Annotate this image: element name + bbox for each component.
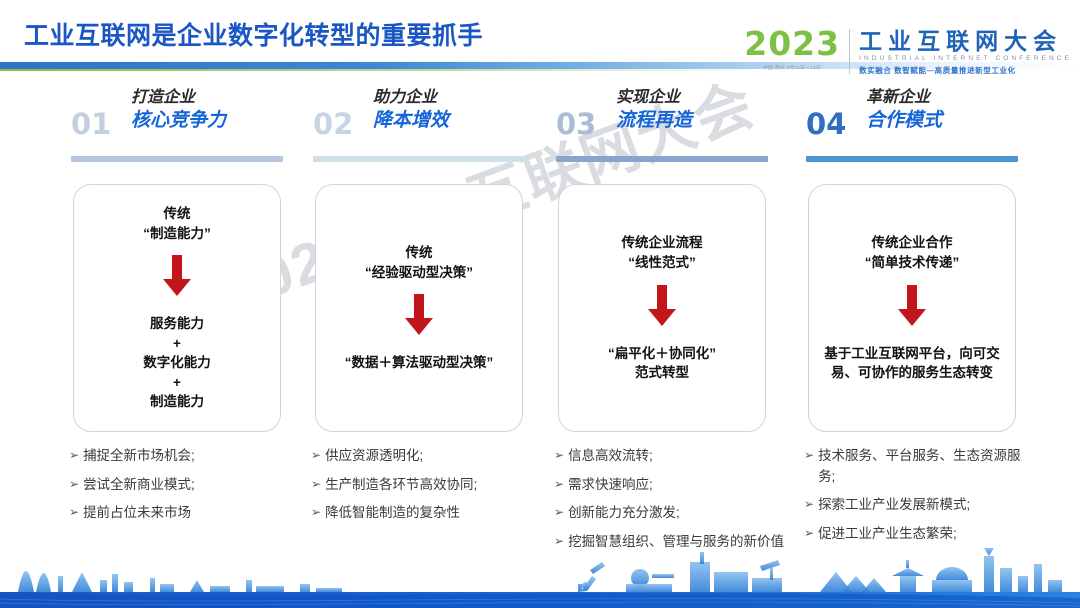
column-01-number: 01 (71, 110, 111, 139)
column-04-title: 合作模式 (866, 109, 942, 133)
bullet-item: ➢创新能力充分激发; (554, 503, 786, 524)
column-03-number: 03 (556, 110, 596, 139)
logo-year: 2023 (744, 27, 840, 60)
column-04-card-bottom: 基于工业互联网平台，向可交易、可协作的服务生态转变 (821, 344, 1003, 383)
title-divider-green (0, 69, 760, 71)
column-02-card: 传统 “经验驱动型决策” “数据＋算法驱动型决策” (315, 184, 523, 432)
bullet-item: ➢信息高效流转; (554, 446, 786, 467)
column-03-title: 流程再造 (616, 109, 692, 133)
bullet-text: 捕捉全新市场机会; (83, 446, 301, 467)
column-02-card-top: 传统 “经验驱动型决策” (365, 243, 473, 282)
bullet-text: 促进工业产业生态繁荣; (818, 524, 1036, 545)
column-01-card: 传统 “制造能力” 服务能力 + 数字化能力 + 制造能力 (73, 184, 281, 432)
column-01: 01 打造企业 核心竞争力 传统 “制造能力” 服务能力 + 数字化能力 + 制… (55, 88, 300, 162)
column-03: 03 实现企业 流程再造 传统企业流程 “线性范式” “扁平化＋协同化” 范式转… (540, 88, 785, 162)
bullet-item: ➢技术服务、平台服务、生态资源服务; (804, 446, 1036, 487)
column-02-card-bottom: “数据＋算法驱动型决策” (345, 353, 494, 373)
column-02-heading: 助力企业 降本增效 (373, 88, 449, 133)
column-01-title: 核心竞争力 (131, 109, 226, 133)
bullet-item: ➢需求快速响应; (554, 475, 786, 496)
bullet-text: 需求快速响应; (568, 475, 786, 496)
column-01-heading: 打造企业 核心竞争力 (131, 88, 226, 133)
column-03-bullets: ➢信息高效流转;➢需求快速响应;➢创新能力充分激发;➢挖掘智慧组织、管理与服务的… (554, 446, 786, 560)
conference-logo: 2023 中国·苏州 5月11日—13日 工业互联网大会 INDUSTRIAL … (744, 27, 1072, 76)
bullet-text: 降低智能制造的复杂性 (325, 503, 543, 524)
column-04-heading: 革新企业 合作模式 (866, 88, 942, 133)
column-02-title: 降本增效 (373, 109, 449, 133)
slide-root: 工业互联网是企业数字化转型的重要抓手 2023 中国·苏州 5月11日—13日 … (0, 0, 1080, 608)
bullet-item: ➢生产制造各环节高效协同; (311, 475, 543, 496)
column-03-card-bottom: “扁平化＋协同化” 范式转型 (608, 344, 716, 383)
column-01-header: 01 打造企业 核心竞争力 (55, 88, 300, 162)
column-04-subtitle: 革新企业 (866, 88, 942, 108)
skyline-silhouette (18, 548, 1062, 592)
chevron-right-icon: ➢ (804, 495, 814, 516)
logo-date-location: 中国·苏州 5月11日—13日 (747, 64, 838, 71)
column-01-bullets: ➢捕捉全新市场机会;➢尝试全新商业模式;➢提前占位未来市场 (69, 446, 301, 532)
column-04-underline (806, 156, 1018, 162)
bullet-item: ➢提前占位未来市场 (69, 503, 301, 524)
chevron-right-icon: ➢ (554, 475, 564, 496)
bullet-item: ➢降低智能制造的复杂性 (311, 503, 543, 524)
column-02-underline (313, 156, 525, 162)
bullet-text: 尝试全新商业模式; (83, 475, 301, 496)
bullet-text: 生产制造各环节高效协同; (325, 475, 543, 496)
bullet-text: 信息高效流转; (568, 446, 786, 467)
chevron-right-icon: ➢ (69, 475, 79, 496)
bullet-text: 供应资源透明化; (325, 446, 543, 467)
column-04-header: 04 革新企业 合作模式 (790, 88, 1035, 162)
chevron-right-icon: ➢ (311, 446, 321, 467)
bullet-text: 提前占位未来市场 (83, 503, 301, 524)
column-03-card-top: 传统企业流程 “线性范式” (622, 233, 703, 272)
column-02-subtitle: 助力企业 (373, 88, 449, 108)
column-01-card-top: 传统 “制造能力” (143, 204, 211, 243)
column-04-number: 04 (806, 110, 846, 139)
columns-container: 01 打造企业 核心竞争力 传统 “制造能力” 服务能力 + 数字化能力 + 制… (0, 88, 1080, 548)
column-02: 02 助力企业 降本增效 传统 “经验驱动型决策” “数据＋算法驱动型决策” ➢… (297, 88, 542, 162)
bullet-item: ➢促进工业产业生态繁荣; (804, 524, 1036, 545)
bullet-item: ➢捕捉全新市场机会; (69, 446, 301, 467)
logo-title-en: INDUSTRIAL INTERNET CONFERENCE (859, 55, 1072, 62)
down-arrow-icon (897, 285, 927, 332)
column-03-card: 传统企业流程 “线性范式” “扁平化＋协同化” 范式转型 (558, 184, 766, 432)
bullet-item: ➢供应资源透明化; (311, 446, 543, 467)
column-02-bullets: ➢供应资源透明化;➢生产制造各环节高效协同;➢降低智能制造的复杂性 (311, 446, 543, 532)
chevron-right-icon: ➢ (69, 503, 79, 524)
column-04-card: 传统企业合作 “简单技术传递” 基于工业互联网平台，向可交易、可协作的服务生态转… (808, 184, 1016, 432)
down-arrow-icon (404, 294, 434, 341)
column-03-heading: 实现企业 流程再造 (616, 88, 692, 133)
column-01-subtitle: 打造企业 (131, 88, 226, 108)
chevron-right-icon: ➢ (311, 503, 321, 524)
column-04-card-top: 传统企业合作 “简单技术传递” (865, 233, 960, 272)
logo-year-block: 2023 中国·苏州 5月11日—13日 (744, 27, 849, 71)
column-01-underline (71, 156, 283, 162)
chevron-right-icon: ➢ (804, 446, 814, 487)
column-04-bullets: ➢技术服务、平台服务、生态资源服务;➢探索工业产业发展新模式;➢促进工业产业生态… (804, 446, 1036, 552)
chevron-right-icon: ➢ (311, 475, 321, 496)
column-03-header: 03 实现企业 流程再造 (540, 88, 785, 162)
column-02-number: 02 (313, 110, 353, 139)
footer-band (0, 546, 1080, 608)
logo-title-cn: 工业互联网大会 (859, 29, 1072, 53)
bullet-text: 创新能力充分激发; (568, 503, 786, 524)
page-title: 工业互联网是企业数字化转型的重要抓手 (24, 16, 483, 52)
bullet-text: 探索工业产业发展新模式; (818, 495, 1036, 516)
footer-skyline-graphic (0, 546, 1080, 608)
bullet-item: ➢尝试全新商业模式; (69, 475, 301, 496)
chevron-right-icon: ➢ (554, 446, 564, 467)
down-arrow-icon (162, 255, 192, 302)
chevron-right-icon: ➢ (554, 503, 564, 524)
chevron-right-icon: ➢ (804, 524, 814, 545)
column-03-underline (556, 156, 768, 162)
bullet-item: ➢探索工业产业发展新模式; (804, 495, 1036, 516)
logo-slogan: 数实融合 数智赋能—高质量推进新型工业化 (859, 65, 1072, 76)
column-02-header: 02 助力企业 降本增效 (297, 88, 542, 162)
chevron-right-icon: ➢ (69, 446, 79, 467)
column-01-card-bottom: 服务能力 + 数字化能力 + 制造能力 (143, 314, 211, 412)
column-03-subtitle: 实现企业 (616, 88, 692, 108)
column-04: 04 革新企业 合作模式 传统企业合作 “简单技术传递” 基于工业互联网平台，向… (790, 88, 1035, 162)
logo-divider (849, 29, 850, 74)
logo-text-block: 工业互联网大会 INDUSTRIAL INTERNET CONFERENCE 数… (859, 27, 1072, 76)
down-arrow-icon (647, 285, 677, 332)
bullet-text: 技术服务、平台服务、生态资源服务; (818, 446, 1036, 487)
